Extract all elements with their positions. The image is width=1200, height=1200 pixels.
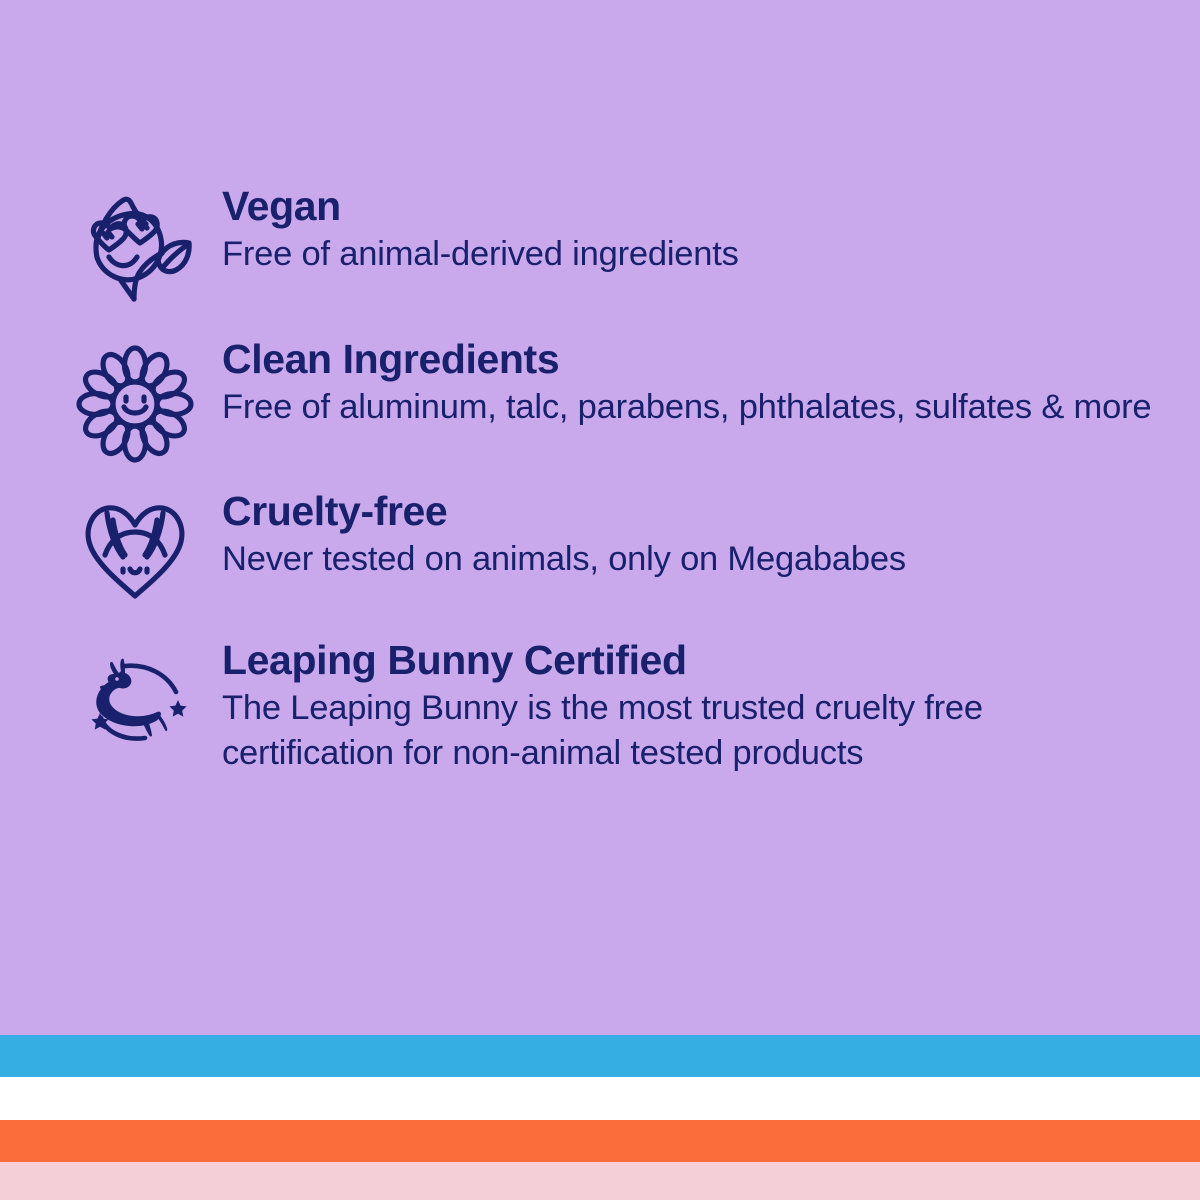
smiling-flower-icon <box>72 339 198 471</box>
white-stripe <box>0 1077 1200 1120</box>
feature-item-vegan: Vegan Free of animal-derived ingredients <box>0 186 1200 318</box>
footer-stripes <box>0 1035 1200 1200</box>
feature-description: Never tested on animals, only on Megabab… <box>222 537 1152 582</box>
feature-item-clean-ingredients: Clean Ingredients Free of aluminum, talc… <box>0 339 1200 471</box>
bunny-heart-face-icon <box>72 491 198 623</box>
vegan-face-leaf-icon <box>72 186 198 318</box>
feature-title: Cruelty-free <box>222 491 1160 533</box>
feature-title: Leaping Bunny Certified <box>222 640 1160 682</box>
feature-title: Clean Ingredients <box>222 339 1160 381</box>
feature-list: Vegan Free of animal-derived ingredients <box>0 0 1200 782</box>
feature-text-clean-ingredients: Clean Ingredients Free of aluminum, talc… <box>198 339 1160 430</box>
feature-text-vegan: Vegan Free of animal-derived ingredients <box>198 186 1160 277</box>
feature-text-cruelty-free: Cruelty-free Never tested on animals, on… <box>198 491 1160 582</box>
feature-item-leaping-bunny: Leaping Bunny Certified The Leaping Bunn… <box>0 640 1200 782</box>
feature-description: Free of animal-derived ingredients <box>222 232 1152 277</box>
product-claims-panel: Vegan Free of animal-derived ingredients <box>0 0 1200 1200</box>
feature-description: Free of aluminum, talc, parabens, phthal… <box>222 385 1152 430</box>
feature-title: Vegan <box>222 186 1160 228</box>
leaping-bunny-certification-icon <box>72 640 198 782</box>
feature-item-cruelty-free: Cruelty-free Never tested on animals, on… <box>0 491 1200 623</box>
orange-stripe <box>0 1120 1200 1162</box>
blue-stripe <box>0 1035 1200 1077</box>
feature-text-leaping-bunny: Leaping Bunny Certified The Leaping Bunn… <box>198 640 1160 776</box>
feature-description: The Leaping Bunny is the most trusted cr… <box>222 686 1152 776</box>
pink-stripe <box>0 1162 1200 1200</box>
